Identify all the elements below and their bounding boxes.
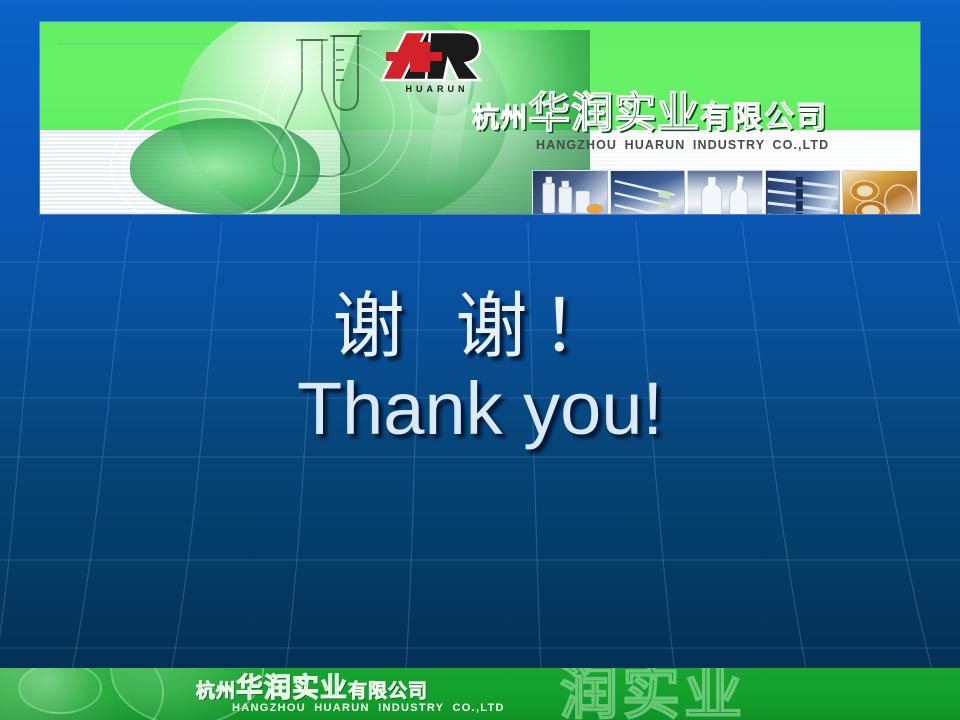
slide-footer-bar: 润实业 杭州 华润实业 有限公司 HANGZHOU HUARUN INDUSTR… [0, 668, 960, 720]
product-photo-amber-jars [842, 170, 918, 214]
product-photo-dropper-bottles [687, 170, 763, 214]
footer-watermark-text: 润实业 [560, 668, 746, 720]
banner-company-main-cn: 华润实业 [528, 92, 700, 134]
thanks-english-text: Thank you! [0, 372, 960, 446]
footer-company-name-en: HANGZHOU HUARUN INDUSTRY CO.,LTD [232, 702, 505, 714]
company-header-banner: HUARUN 杭州 华润实业 有限公司 HANGZHOU HUARUN INDU… [40, 22, 920, 214]
footer-company-suffix-cn: 有限公司 [348, 682, 428, 702]
footer-company-name-cn: 杭州 华润实业 有限公司 [196, 670, 428, 702]
product-photo-prefilled-syringes [765, 170, 841, 214]
footer-company-main-cn: 华润实业 [236, 675, 348, 702]
hand-ring-inner [122, 108, 286, 214]
banner-company-prefix-cn: 杭州 [472, 105, 528, 134]
product-photo-pump-bottles [532, 170, 608, 214]
thanks-chinese-text: 谢 谢！ [0, 288, 960, 366]
slide-main-text: 谢 谢！ Thank you! [0, 288, 960, 446]
banner-company-name-cn: 杭州 华润实业 有限公司 [472, 78, 828, 134]
presentation-slide: HUARUN 杭州 华润实业 有限公司 HANGZHOU HUARUN INDU… [0, 0, 960, 720]
product-photo-strip [532, 170, 918, 214]
product-photo-syringes [610, 170, 686, 214]
footer-company-prefix-cn: 杭州 [196, 682, 236, 702]
banner-company-suffix-cn: 有限公司 [700, 103, 828, 134]
banner-company-name-en: HANGZHOU HUARUN INDUSTRY CO.,LTD [536, 138, 829, 152]
